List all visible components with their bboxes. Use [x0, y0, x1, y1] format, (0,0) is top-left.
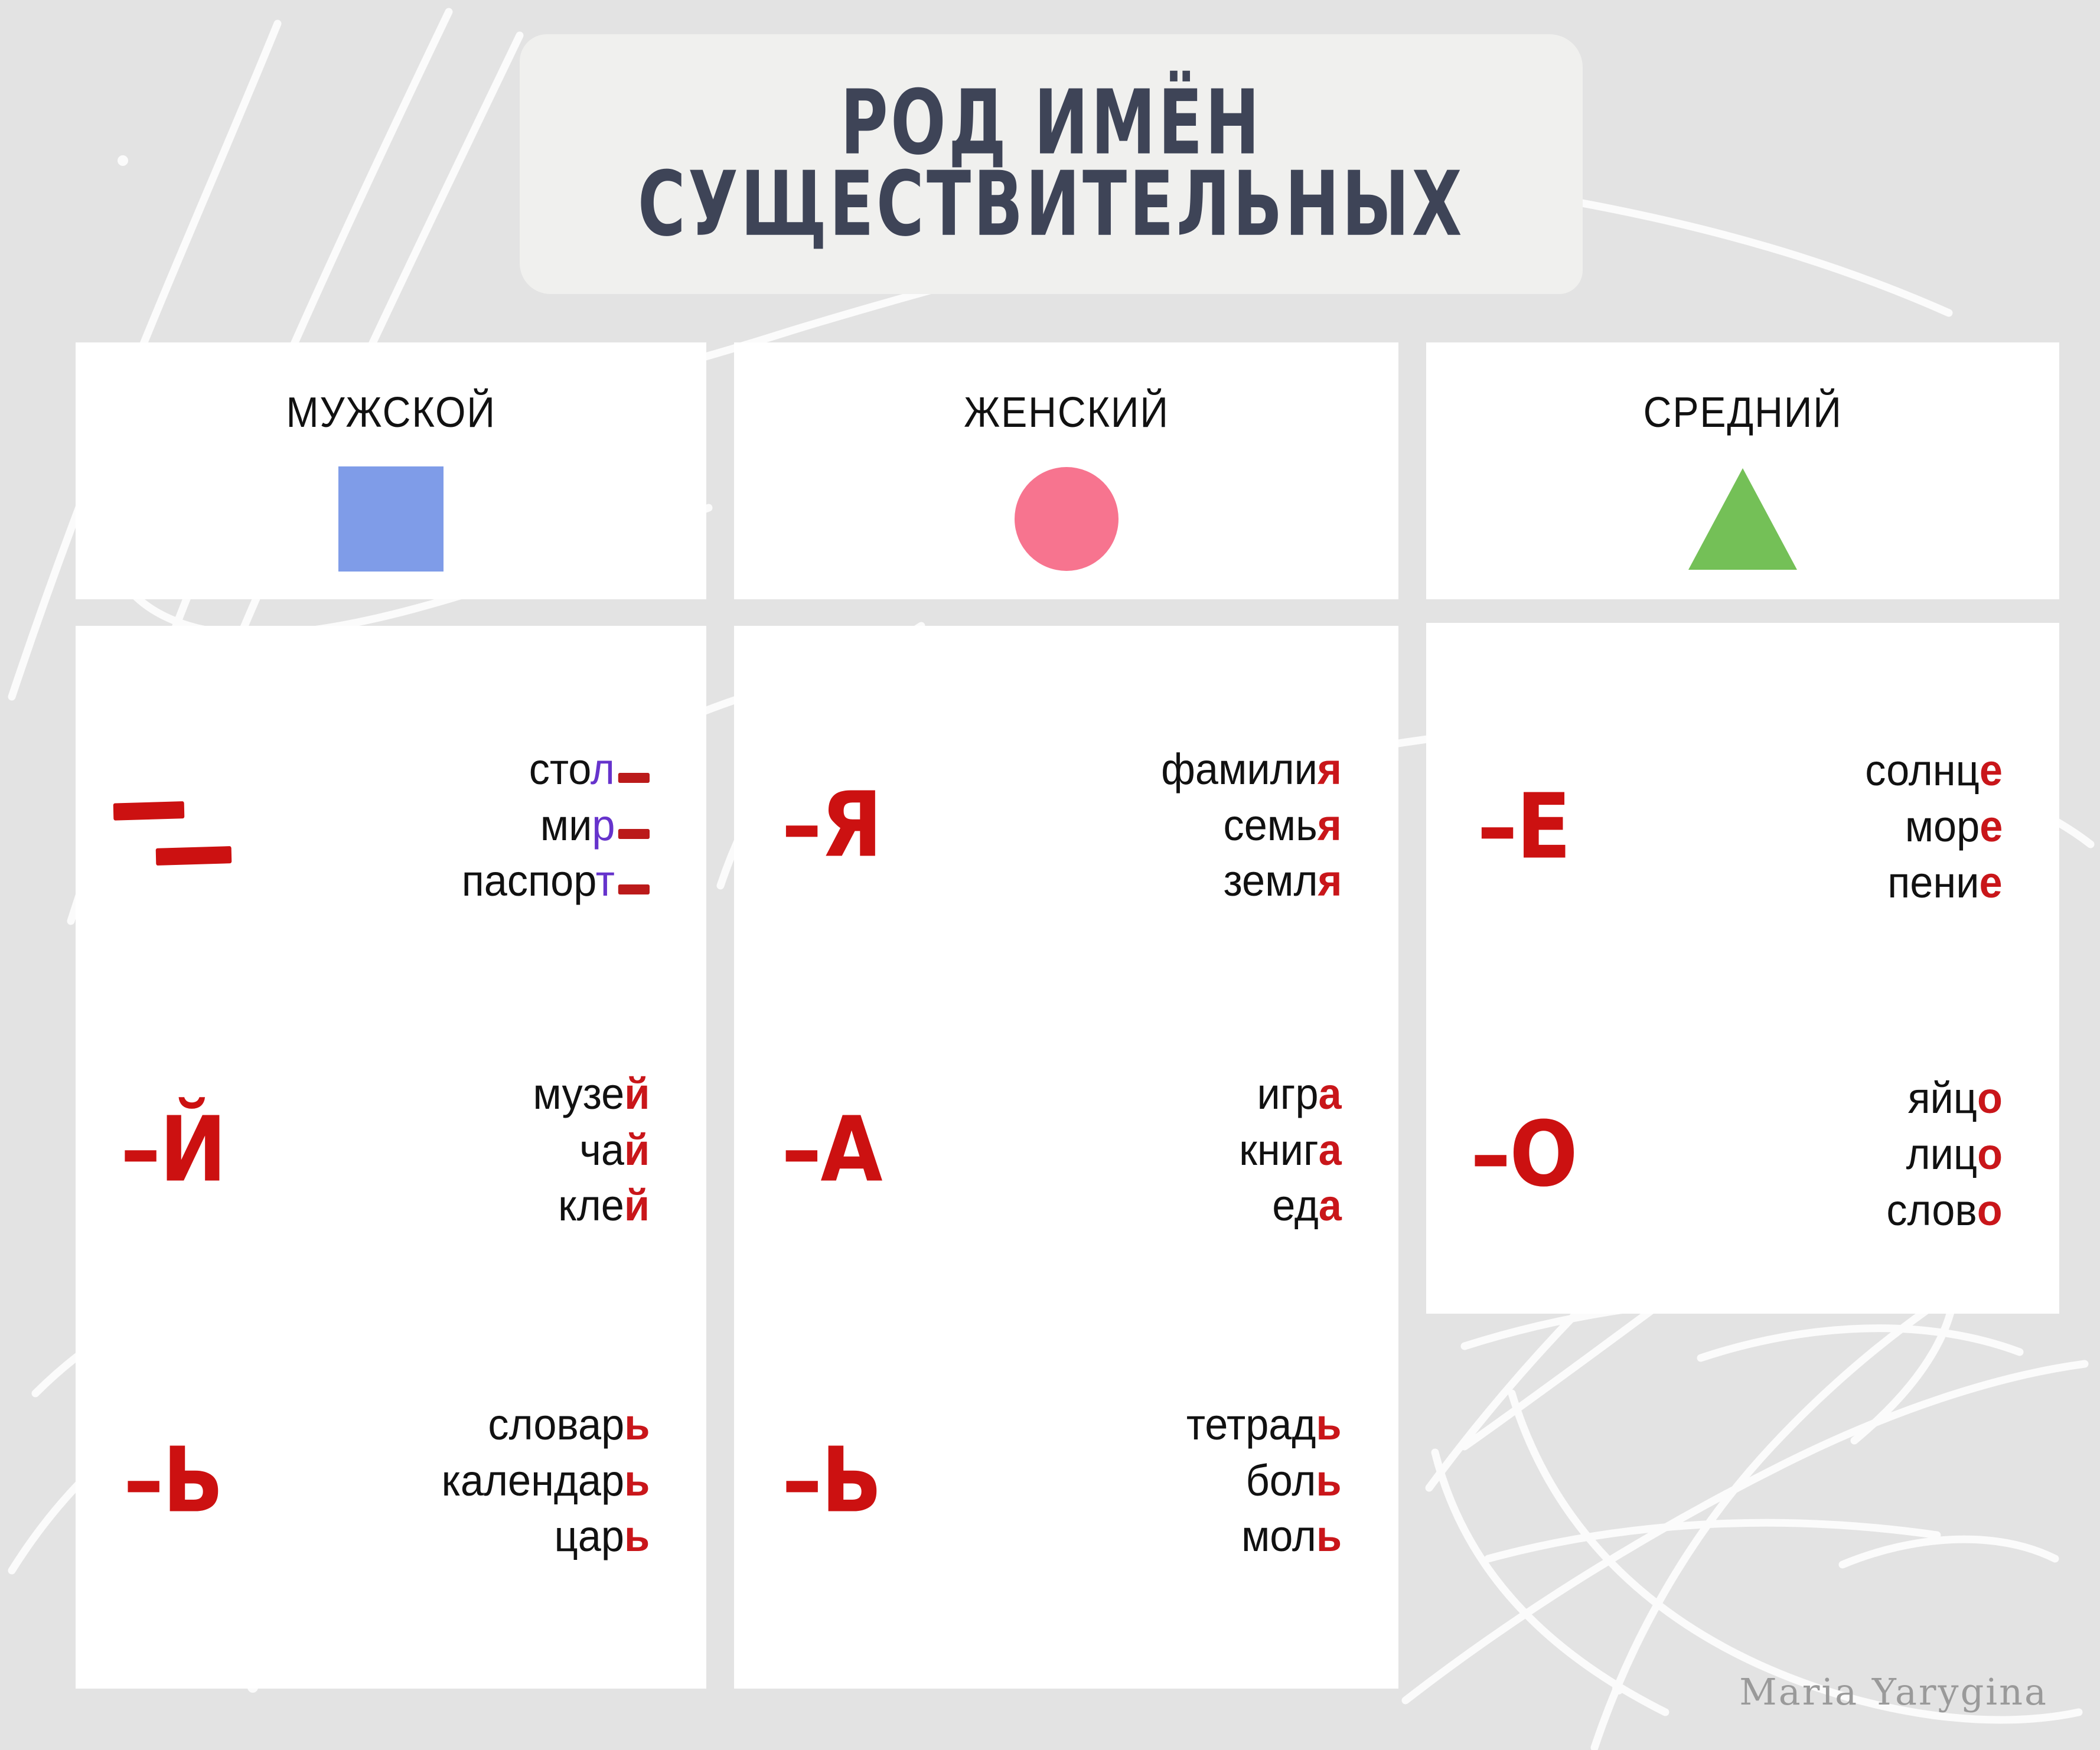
- example-word: солнце: [1865, 743, 2003, 799]
- shape-wrapper: [1688, 463, 1797, 575]
- example-word: моль: [1241, 1509, 1342, 1565]
- rules-card-feminine: –Яфамилиясемьяземля–Аигракнигаеда–Ьтетра…: [734, 626, 1398, 1689]
- example-word: календарь: [441, 1453, 650, 1509]
- ending-marker: –Ь: [76, 1436, 270, 1526]
- ending-marker: –Я: [734, 781, 929, 870]
- ending-marker: –Ь: [734, 1436, 929, 1526]
- example-word: музей: [533, 1066, 650, 1122]
- rule-group: –Яфамилиясемьяземля: [734, 666, 1398, 985]
- infographic-page: РОД ИМЁН СУЩЕСТВИТЕЛЬНЫХ МУЖСКОЙ ЖЕНСКИЙ…: [0, 0, 2100, 1750]
- rule-group: –Ьсловарькалендарьцарь: [76, 1315, 706, 1646]
- example-word: яйцо: [1907, 1070, 2003, 1127]
- example-word: пение: [1888, 855, 2003, 911]
- example-word: слово: [1887, 1183, 2003, 1239]
- page-title: РОД ИМЁН СУЩЕСТВИТЕЛЬНЫХ: [520, 34, 1583, 294]
- example-word: боль: [1246, 1453, 1342, 1509]
- title-line-2: СУЩЕСТВИТЕЛЬНЫХ: [638, 160, 1465, 249]
- example-word-list: фамилиясемьяземля: [929, 742, 1398, 909]
- ending-marker: –О: [1426, 1109, 1621, 1199]
- gender-header-card-masculine: МУЖСКОЙ: [76, 342, 706, 599]
- example-word: клей: [558, 1178, 650, 1234]
- gender-label-feminine: ЖЕНСКИЙ: [964, 388, 1169, 437]
- rules-list-neuter: –Есолнцеморепение–Ояйцолицослово: [1426, 623, 2059, 1314]
- square-icon: [338, 466, 444, 572]
- example-word: тетрадь: [1186, 1397, 1342, 1453]
- rule-group: –Аигракнигаеда: [734, 985, 1398, 1315]
- shape-wrapper: [338, 463, 444, 575]
- gender-header-card-feminine: ЖЕНСКИЙ: [734, 342, 1398, 599]
- author-signature: Maria Yarygina: [1739, 1670, 2048, 1713]
- zero-ending-icon: [111, 776, 235, 875]
- ending-marker: [76, 776, 270, 875]
- example-word-list: словарькалендарьцарь: [270, 1397, 706, 1565]
- example-word-list: яйцолицослово: [1621, 1070, 2059, 1238]
- example-word: фамилия: [1161, 742, 1342, 798]
- rule-group: –Есолнцеморепение: [1426, 663, 2059, 991]
- example-word: море: [1905, 799, 2003, 855]
- example-word-list: музейчайклей: [270, 1066, 706, 1234]
- example-word: стол: [529, 742, 650, 798]
- example-word: паспорт: [462, 853, 650, 909]
- example-word: еда: [1272, 1178, 1342, 1234]
- example-word: семья: [1224, 798, 1342, 854]
- example-word-list: тетрадьбольмоль: [929, 1397, 1398, 1565]
- example-word: царь: [554, 1509, 650, 1565]
- triangle-icon: [1688, 468, 1797, 570]
- gender-label-masculine: МУЖСКОЙ: [286, 388, 495, 437]
- shape-wrapper: [1015, 463, 1119, 575]
- ending-marker: –А: [734, 1105, 929, 1195]
- example-word: словарь: [488, 1397, 650, 1453]
- gender-header-card-neuter: СРЕДНИЙ: [1426, 342, 2059, 599]
- example-word: земля: [1223, 853, 1342, 909]
- rules-card-masculine: столмирпаспорт–Ймузейчайклей–Ьсловарькал…: [76, 626, 706, 1689]
- example-word: лицо: [1906, 1127, 2003, 1183]
- rule-group: –Ймузейчайклей: [76, 985, 706, 1315]
- example-word: игра: [1257, 1066, 1342, 1122]
- example-word: чай: [579, 1122, 650, 1178]
- example-word-list: солнцеморепение: [1621, 743, 2059, 910]
- ending-marker: –Й: [76, 1105, 270, 1195]
- rule-group: –Ьтетрадьбольмоль: [734, 1315, 1398, 1646]
- gender-label-neuter: СРЕДНИЙ: [1643, 388, 1842, 437]
- rule-group: столмирпаспорт: [76, 666, 706, 985]
- example-word: мир: [540, 798, 650, 854]
- example-word-list: столмирпаспорт: [270, 742, 706, 909]
- rules-card-neuter: –Есолнцеморепение–Ояйцолицослово: [1426, 623, 2059, 1314]
- rules-list-feminine: –Яфамилиясемьяземля–Аигракнигаеда–Ьтетра…: [734, 626, 1398, 1689]
- ending-marker: –Е: [1426, 782, 1621, 871]
- rules-list-masculine: столмирпаспорт–Ймузейчайклей–Ьсловарькал…: [76, 626, 706, 1689]
- example-word-list: игракнигаеда: [929, 1066, 1398, 1234]
- rule-group: –Ояйцолицослово: [1426, 991, 2059, 1318]
- circle-icon: [1015, 467, 1119, 571]
- example-word: книга: [1239, 1122, 1342, 1178]
